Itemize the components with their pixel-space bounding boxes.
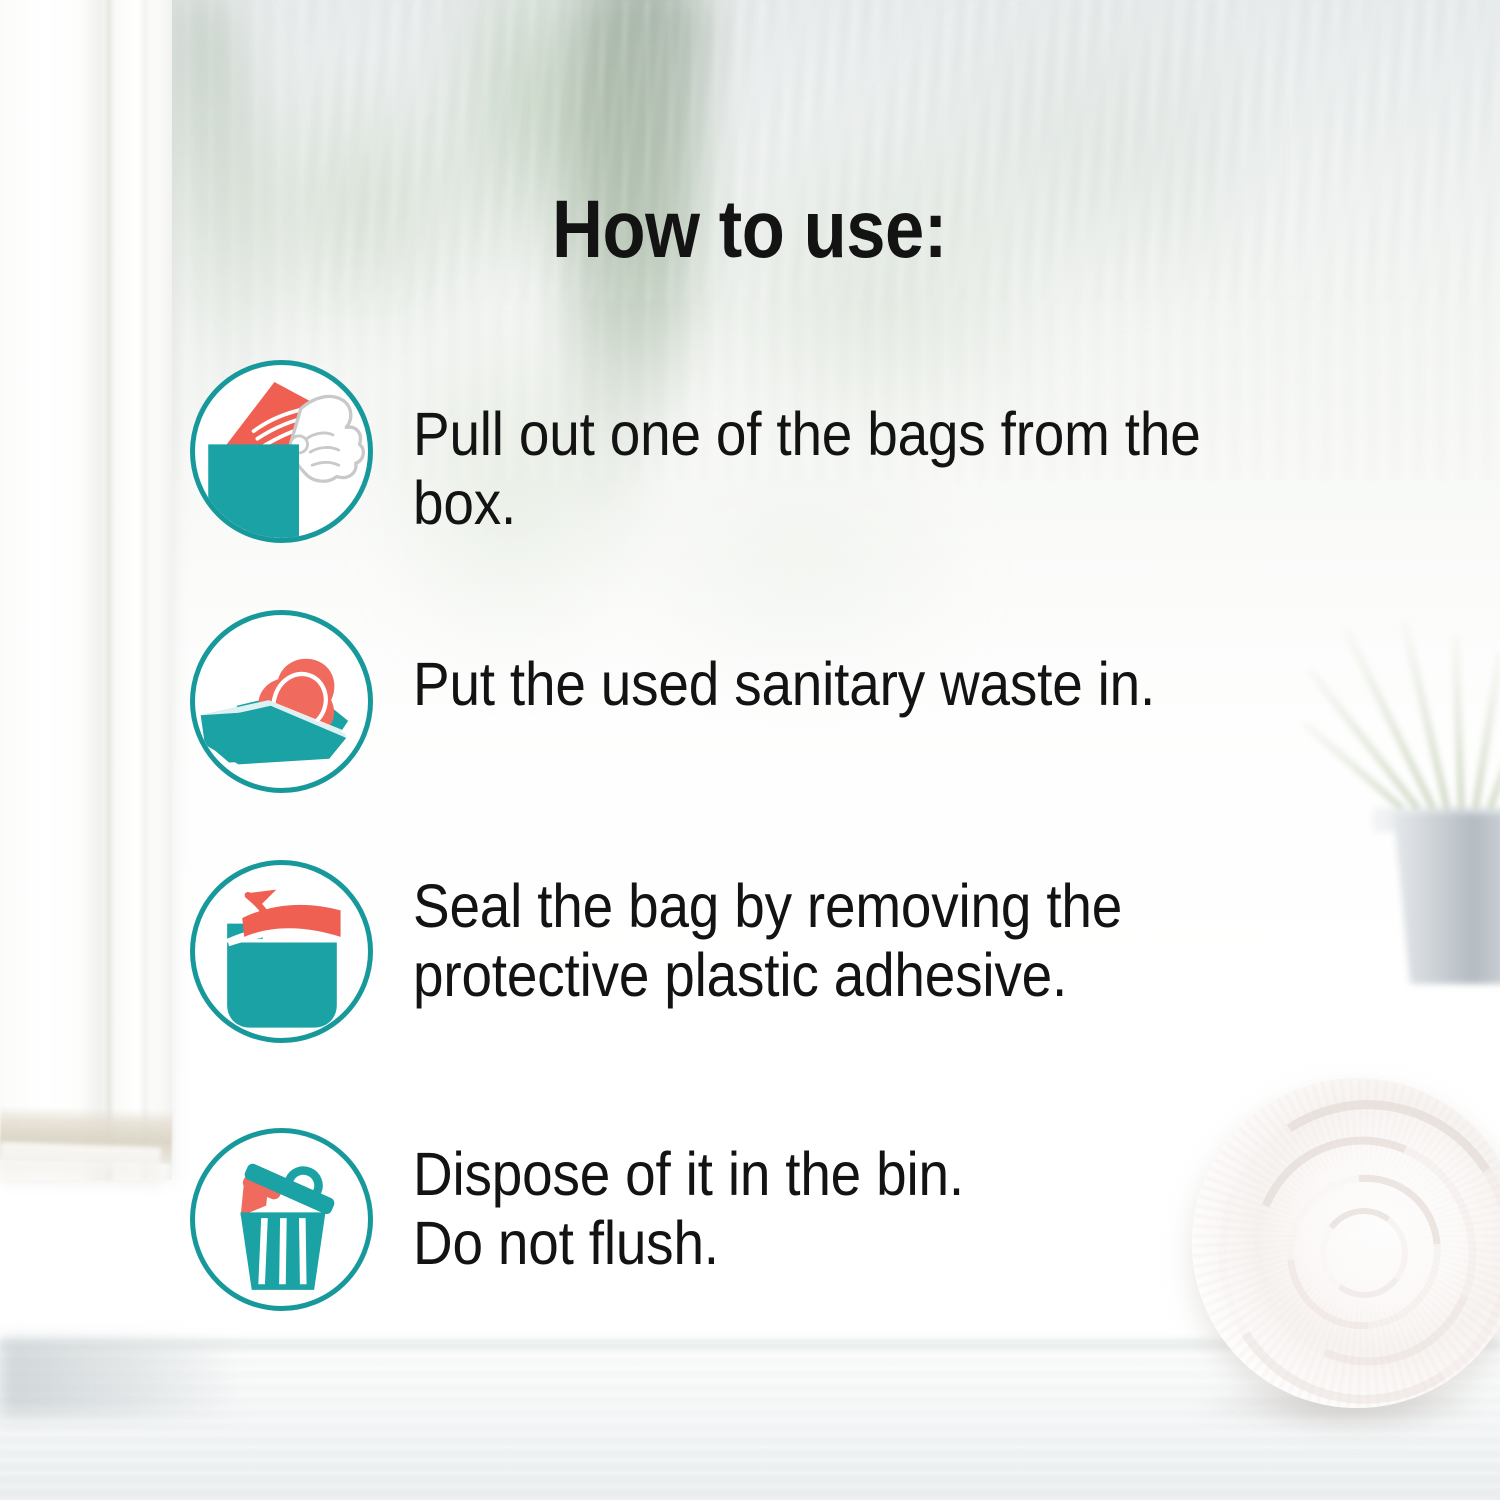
how-to-use-infographic: How to use: bbox=[0, 0, 1500, 1500]
step-item: Pull out one of the bags from the box. bbox=[190, 360, 1390, 610]
insert-sanitary-waste-icon bbox=[190, 610, 373, 793]
step-text: Put the used sanitary waste in. bbox=[413, 610, 1155, 719]
step-text: Pull out one of the bags from the box. bbox=[413, 360, 1292, 538]
step-item: Seal the bag by removing the protective … bbox=[190, 860, 1390, 1128]
step-text: Seal the bag by removing the protective … bbox=[413, 860, 1122, 1010]
step-text: Dispose of it in the bin. Do not flush. bbox=[413, 1128, 964, 1278]
infographic-content: How to use: bbox=[0, 0, 1500, 1500]
steps-list: Pull out one of the bags from the box. bbox=[190, 360, 1390, 1378]
step-item: Dispose of it in the bin. Do not flush. bbox=[190, 1128, 1390, 1378]
pull-bag-from-box-icon bbox=[190, 360, 373, 543]
peel-adhesive-seal-icon bbox=[190, 860, 373, 1043]
step-item: Put the used sanitary waste in. bbox=[190, 610, 1390, 860]
page-title: How to use: bbox=[552, 183, 947, 277]
dispose-in-bin-icon bbox=[190, 1128, 373, 1311]
